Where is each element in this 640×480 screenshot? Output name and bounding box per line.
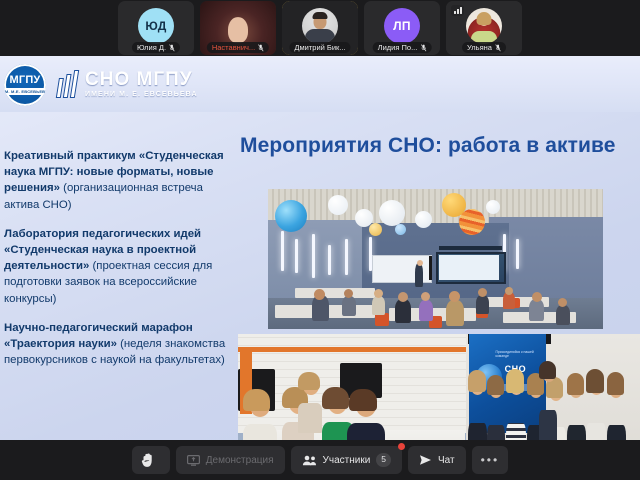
mgpu-logo-subtitle: ИМ. М.Е. ЕВСЕВЬЕВА	[4, 88, 46, 95]
avatar	[466, 8, 502, 44]
slide-title: Мероприятия СНО: работа в активе	[240, 134, 616, 158]
sno-logo-subtitle: ИМЕНИ М. Е. ЕВСЕВЬЕВА	[85, 91, 198, 98]
participant-name-chip: Лидия По...	[373, 42, 432, 53]
signal-strength-icon	[451, 5, 464, 16]
planet-jupiter-decor	[459, 209, 485, 235]
meeting-toolbar: Демонстрация Участники 5 Чат •••	[0, 440, 640, 480]
participant-tile-yulia[interactable]: ЮД Юлия Д.	[118, 1, 194, 55]
participants-button[interactable]: Участники 5	[291, 446, 403, 474]
participant-name: Дмитрий Бик...	[294, 43, 345, 52]
participants-count: 5	[376, 453, 391, 466]
more-dots-icon: •••	[481, 453, 500, 467]
books-icon	[56, 70, 79, 98]
mic-off-icon	[420, 44, 426, 52]
chat-button[interactable]: Чат	[408, 446, 466, 474]
share-screen-button[interactable]: Демонстрация	[176, 446, 285, 474]
bullet-item: Креативный практикум «Студенческая наука…	[4, 148, 236, 213]
participant-tile-dmitriy[interactable]: Дмитрий Бик...	[282, 1, 358, 55]
participant-tile-nastavnich[interactable]: Наставнич...	[200, 1, 276, 55]
participant-name-chip: Наставнич...	[207, 42, 269, 53]
planet-earth-decor	[275, 200, 307, 232]
slide-bullet-list: Креативный практикум «Студенческая наука…	[4, 148, 236, 381]
bullet-item: Лаборатория педагогических идей «Студенч…	[4, 226, 236, 307]
mgpu-round-logo: МГПУ ИМ. М.Е. ЕВСЕВЬЕВА	[4, 64, 46, 106]
avatar: ЮД	[138, 8, 174, 44]
chat-send-icon	[419, 454, 432, 466]
participant-tile-ulyana[interactable]: Ульяна	[446, 1, 522, 55]
slide-photo-lecture-hall	[268, 189, 603, 329]
sno-logo-title: СНО МГПУ	[85, 70, 198, 89]
video-face	[228, 17, 248, 43]
avatar-initials: ЮД	[145, 19, 166, 33]
avatar	[302, 8, 338, 44]
mic-off-icon	[169, 44, 175, 52]
participant-name-chip: Дмитрий Бик...	[289, 42, 350, 53]
sno-mgpu-logo: СНО МГПУ ИМЕНИ М. Е. ЕВСЕВЬЕВА	[58, 70, 198, 98]
participant-name-chip: Юлия Д.	[132, 42, 180, 53]
avatar-hair	[313, 12, 328, 19]
share-screen-label: Демонстрация	[206, 455, 274, 466]
banner-fine-print: Присоединяйся к нашей команде	[495, 350, 539, 359]
mgpu-logo-title: МГПУ	[10, 75, 41, 86]
participant-name: Ульяна	[467, 43, 492, 52]
participants-label: Участники	[323, 455, 371, 466]
participants-icon	[302, 455, 317, 466]
bullet-item: Научно-педагогический марафон «Траектори…	[4, 320, 236, 369]
shared-screen-stage[interactable]: МГПУ ИМ. М.Е. ЕВСЕВЬЕВА СНО МГПУ ИМЕНИ М…	[0, 56, 640, 440]
raised-hand-icon	[141, 453, 155, 468]
participant-name: Юлия Д.	[137, 43, 166, 52]
participant-name-chip: Ульяна	[462, 42, 506, 53]
more-options-button[interactable]: •••	[472, 446, 509, 474]
participants-alert-badge	[398, 443, 405, 450]
slide-photo-team-meeting	[238, 334, 470, 440]
mic-off-icon	[495, 44, 501, 52]
slide-photo-group: Присоединяйся к нашей команде СНО	[466, 334, 640, 440]
participant-name: Наставнич...	[212, 43, 255, 52]
avatar: ЛП	[384, 8, 420, 44]
chat-label: Чат	[438, 455, 455, 466]
avatar-initials: ЛП	[393, 19, 411, 33]
participant-tile-lidiya[interactable]: ЛП Лидия По...	[364, 1, 440, 55]
participant-name: Лидия По...	[378, 43, 418, 52]
avatar-hair	[477, 12, 492, 25]
screen-share-icon	[187, 455, 200, 466]
mic-off-icon	[258, 44, 264, 52]
participant-filmstrip: ЮД Юлия Д. Наставнич...	[0, 0, 640, 56]
raise-hand-button[interactable]	[132, 446, 170, 474]
presentation-slide: МГПУ ИМ. М.Е. ЕВСЕВЬЕВА СНО МГПУ ИМЕНИ М…	[0, 56, 640, 440]
